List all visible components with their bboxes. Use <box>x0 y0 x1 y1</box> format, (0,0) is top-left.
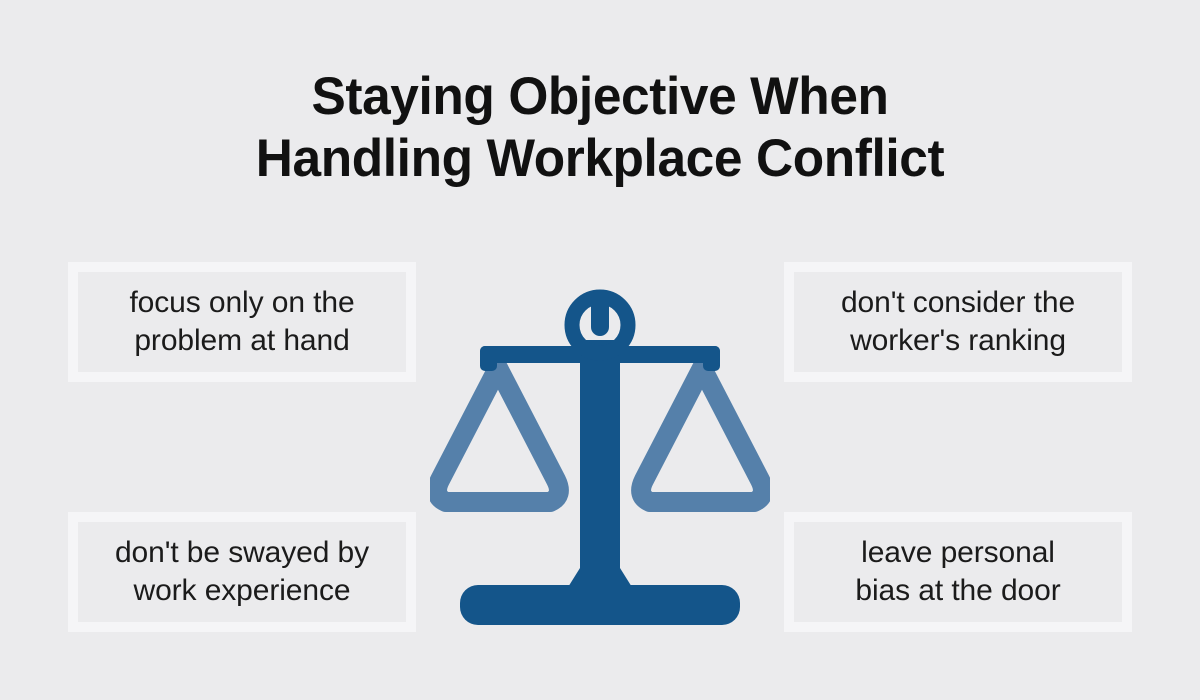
callout-text: leave personal bias at the door <box>849 534 1066 610</box>
callout-line-1: don't be swayed by <box>115 536 369 569</box>
callout-text: don't consider the worker's ranking <box>835 284 1081 360</box>
callout-line-2: problem at hand <box>134 324 349 357</box>
callout-ignore-experience: don't be swayed by work experience <box>68 512 416 632</box>
callout-ignore-ranking: don't consider the worker's ranking <box>784 262 1132 382</box>
callout-line-1: leave personal <box>861 536 1055 569</box>
callout-text: focus only on the problem at hand <box>123 284 360 360</box>
callout-line-1: don't consider the <box>841 286 1075 319</box>
callout-line-1: focus only on the <box>129 286 354 319</box>
balance-scales-illustration <box>430 280 770 640</box>
callout-line-2: work experience <box>134 574 351 607</box>
page-title-line-2: Handling Workplace Conflict <box>18 128 1182 190</box>
column-icon <box>565 340 635 592</box>
callout-line-2: worker's ranking <box>850 324 1066 357</box>
right-pan-icon <box>641 368 763 502</box>
callout-line-2: bias at the door <box>855 574 1060 607</box>
base-icon <box>460 585 740 625</box>
callout-leave-bias: leave personal bias at the door <box>784 512 1132 632</box>
callout-focus-on-problem: focus only on the problem at hand <box>68 262 416 382</box>
poster-canvas: Staying Objective When Handling Workplac… <box>0 0 1200 700</box>
page-title: Staying Objective When Handling Workplac… <box>0 66 1200 190</box>
left-pan-icon <box>437 368 559 502</box>
callout-text: don't be swayed by work experience <box>109 534 375 610</box>
page-title-line-1: Staying Objective When <box>18 66 1182 128</box>
balance-scales-icon <box>430 280 770 640</box>
